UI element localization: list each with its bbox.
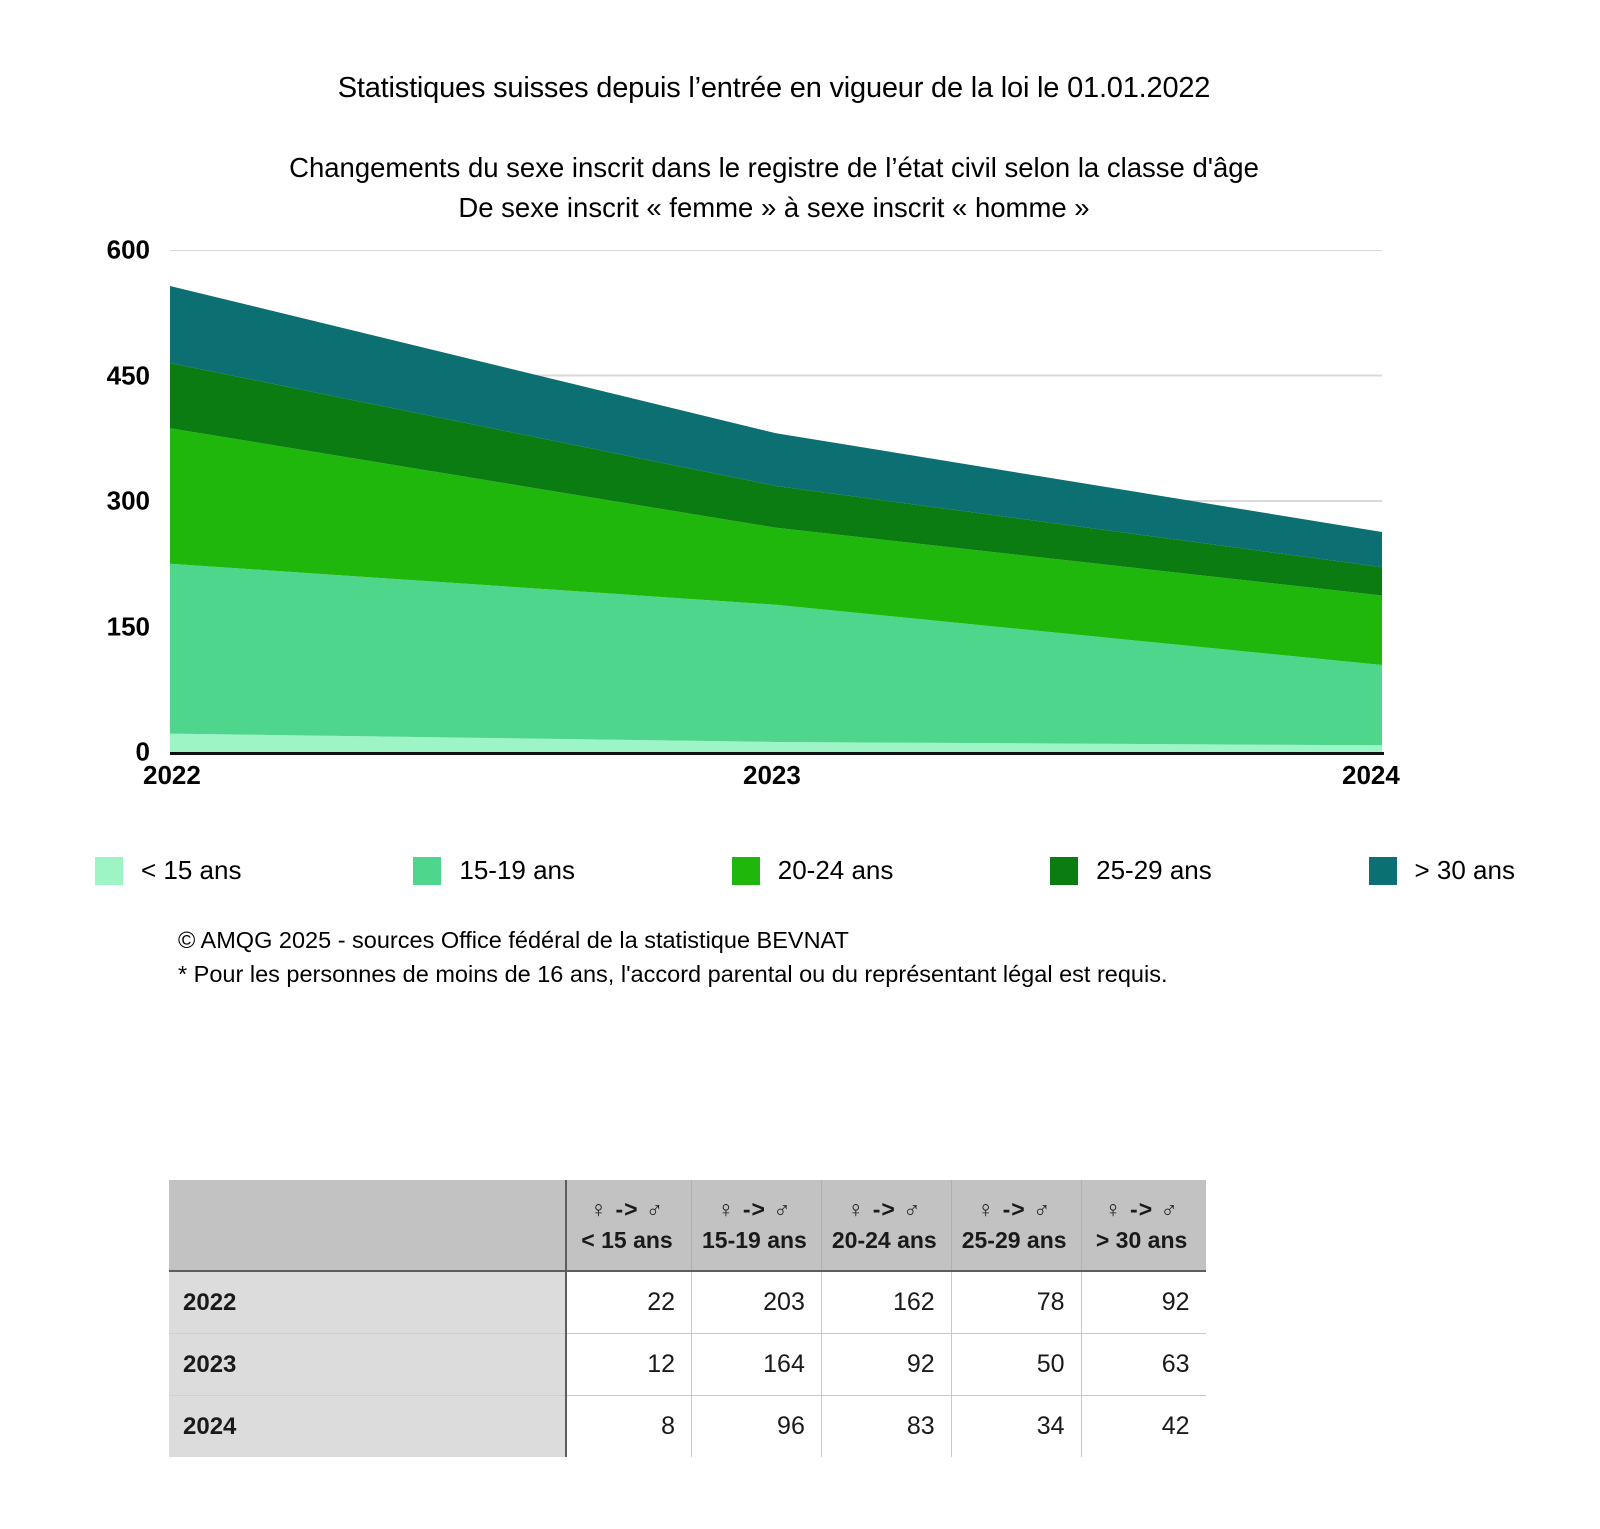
table-cell-4: 92 <box>1081 1271 1206 1334</box>
x-axis-tick-2022: 2022 <box>143 760 201 791</box>
table-column-header-3: ♀ -> ♂25-29 ans <box>951 1180 1081 1271</box>
table-header: ♀ -> ♂< 15 ans♀ -> ♂15-19 ans♀ -> ♂20-24… <box>169 1180 1206 1271</box>
table-cell-0: 8 <box>566 1396 692 1458</box>
y-axis-tick-0: 0 <box>10 737 160 768</box>
table-row-year: 2024 <box>169 1396 566 1458</box>
legend-item-1[interactable]: 15-19 ans <box>413 855 731 886</box>
legend-item-2[interactable]: 20-24 ans <box>732 855 1050 886</box>
page-title: Statistiques suisses depuis l’entrée en … <box>0 72 1548 105</box>
legend-label: > 30 ans <box>1415 855 1515 886</box>
age-group-label: 20-24 ans <box>832 1225 937 1256</box>
stacked-area-chart: 0150300450600 202220232024 <box>0 232 1600 812</box>
female-to-male-icon: ♀ -> ♂ <box>1092 1194 1192 1225</box>
table-cell-1: 164 <box>692 1334 822 1396</box>
table-cell-1: 96 <box>692 1396 822 1458</box>
table-cell-4: 42 <box>1081 1396 1206 1458</box>
table-cell-3: 78 <box>951 1271 1081 1334</box>
legend-label: 25-29 ans <box>1096 855 1212 886</box>
table-cell-2: 83 <box>821 1396 951 1458</box>
footnote-parental-consent: * Pour les personnes de moins de 16 ans,… <box>178 957 1167 991</box>
y-axis-tick-450: 450 <box>10 360 160 391</box>
legend-swatch-icon <box>413 857 441 885</box>
legend-label: 15-19 ans <box>459 855 575 886</box>
footnote-source: © AMQG 2025 - sources Office fédéral de … <box>178 923 1167 957</box>
table-cell-0: 12 <box>566 1334 692 1396</box>
legend-item-3[interactable]: 25-29 ans <box>1050 855 1368 886</box>
chart-subtitle-line1: Changements du sexe inscrit dans le regi… <box>0 148 1548 188</box>
x-axis-line <box>170 752 1384 755</box>
legend-item-0[interactable]: < 15 ans <box>95 855 413 886</box>
table-cell-2: 162 <box>821 1271 951 1334</box>
table-row: 2022222031627892 <box>169 1271 1206 1334</box>
x-axis-tick-2023: 2023 <box>743 760 801 791</box>
legend-label: < 15 ans <box>141 855 241 886</box>
legend-label: 20-24 ans <box>778 855 894 886</box>
table-cell-0: 22 <box>566 1271 692 1334</box>
female-to-male-icon: ♀ -> ♂ <box>702 1194 807 1225</box>
female-to-male-icon: ♀ -> ♂ <box>577 1194 677 1225</box>
y-axis-tick-300: 300 <box>10 486 160 517</box>
age-group-label: 25-29 ans <box>962 1225 1067 1256</box>
female-to-male-icon: ♀ -> ♂ <box>962 1194 1067 1225</box>
page-root: Statistiques suisses depuis l’entrée en … <box>0 0 1600 1529</box>
chart-subtitle: Changements du sexe inscrit dans le regi… <box>0 148 1548 228</box>
chart-subtitle-line2: De sexe inscrit « femme » à sexe inscrit… <box>0 188 1548 228</box>
legend-item-4[interactable]: > 30 ans <box>1369 855 1515 886</box>
data-table: ♀ -> ♂< 15 ans♀ -> ♂15-19 ans♀ -> ♂20-24… <box>169 1180 1206 1457</box>
table-cell-3: 34 <box>951 1396 1081 1458</box>
table-cell-3: 50 <box>951 1334 1081 1396</box>
table-body: 2022222031627892202312164925063202489683… <box>169 1271 1206 1457</box>
legend-swatch-icon <box>732 857 760 885</box>
table-row-year: 2022 <box>169 1271 566 1334</box>
y-axis-tick-600: 600 <box>10 235 160 266</box>
age-group-label: > 30 ans <box>1092 1225 1192 1256</box>
table-column-header-4: ♀ -> ♂> 30 ans <box>1081 1180 1206 1271</box>
y-axis-tick-150: 150 <box>10 611 160 642</box>
age-group-label: 15-19 ans <box>702 1225 807 1256</box>
table-cell-2: 92 <box>821 1334 951 1396</box>
x-axis-tick-2024: 2024 <box>1342 760 1400 791</box>
age-group-label: < 15 ans <box>577 1225 677 1256</box>
table-column-header-2: ♀ -> ♂20-24 ans <box>821 1180 951 1271</box>
table-cell-1: 203 <box>692 1271 822 1334</box>
table-cell-4: 63 <box>1081 1334 1206 1396</box>
table-row: 202312164925063 <box>169 1334 1206 1396</box>
table-header-row: ♀ -> ♂< 15 ans♀ -> ♂15-19 ans♀ -> ♂20-24… <box>169 1180 1206 1271</box>
female-to-male-icon: ♀ -> ♂ <box>832 1194 937 1225</box>
footnotes: © AMQG 2025 - sources Office fédéral de … <box>178 923 1167 991</box>
y-axis-labels: 0150300450600 <box>0 232 160 772</box>
chart-plot-area <box>170 250 1382 752</box>
chart-svg <box>170 250 1382 752</box>
legend-swatch-icon <box>95 857 123 885</box>
table-column-header-0: ♀ -> ♂< 15 ans <box>566 1180 692 1271</box>
chart-legend: < 15 ans15-19 ans20-24 ans25-29 ans> 30 … <box>95 855 1515 886</box>
legend-swatch-icon <box>1050 857 1078 885</box>
table-corner-cell <box>169 1180 566 1271</box>
table-row: 2024896833442 <box>169 1396 1206 1458</box>
table-column-header-1: ♀ -> ♂15-19 ans <box>692 1180 822 1271</box>
legend-swatch-icon <box>1369 857 1397 885</box>
table-row-year: 2023 <box>169 1334 566 1396</box>
